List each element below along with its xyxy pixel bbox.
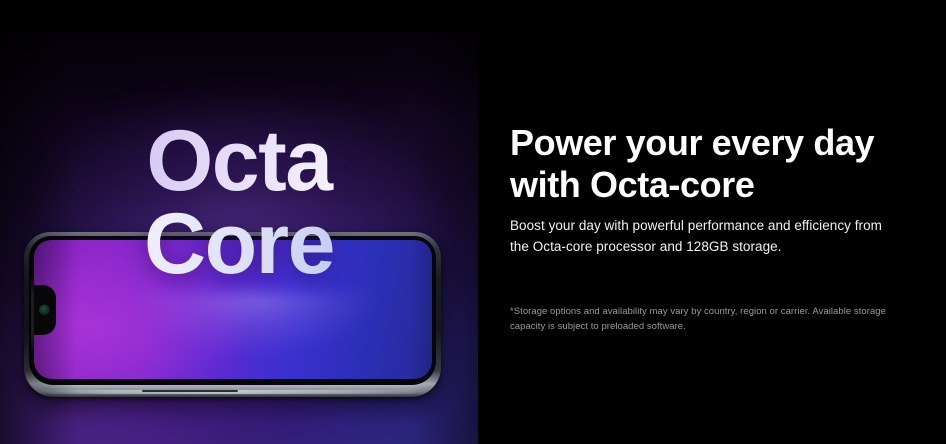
hero-image-panel: Octa Core bbox=[0, 0, 478, 444]
octa-core-promo-banner: Octa Core Power your every day with Octa… bbox=[0, 0, 946, 444]
front-camera-icon bbox=[39, 304, 50, 315]
phone-device bbox=[24, 232, 441, 397]
body-description: Boost your day with powerful performance… bbox=[510, 216, 902, 258]
phone-screen bbox=[34, 240, 432, 379]
phone-earpiece bbox=[31, 276, 34, 354]
legal-footnote: *Storage options and availability may va… bbox=[510, 304, 910, 335]
headline-line-1: Power your every day bbox=[510, 122, 920, 164]
wordmark-line-octa: Octa bbox=[0, 120, 478, 203]
phone-speaker-grille bbox=[142, 390, 238, 392]
page-title: Power your every day with Octa-core bbox=[510, 122, 920, 207]
headline-line-2: with Octa-core bbox=[510, 164, 920, 206]
hero-artwork: Octa Core bbox=[0, 32, 478, 444]
copy-panel: Power your every day with Octa-core Boos… bbox=[478, 0, 946, 444]
screen-reflection bbox=[130, 292, 380, 354]
